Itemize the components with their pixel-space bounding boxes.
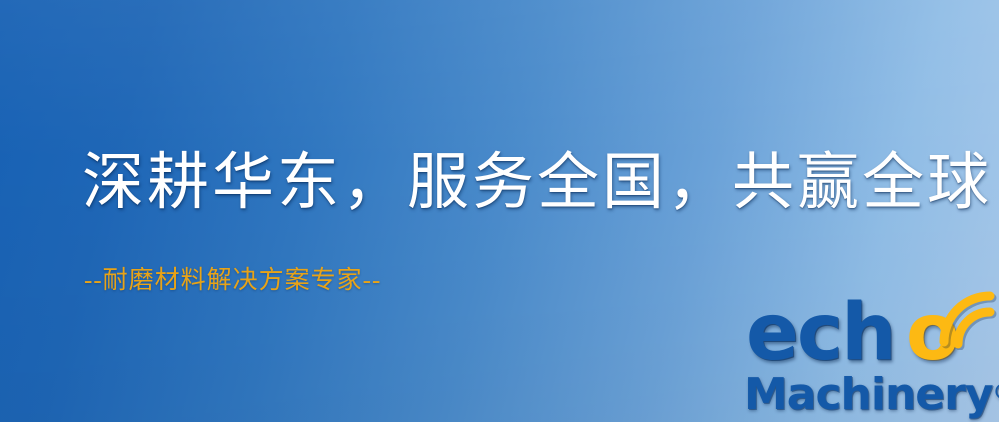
echo-machinery-logo: ech o Machinery® [742,292,994,420]
banner-subtitle: --耐磨材料解决方案专家-- [84,268,381,293]
hero-banner: 深耕华东，服务全国，共赢全球 --耐磨材料解决方案专家-- ech o Mach… [0,0,999,422]
logo-wordmark: ech o [742,292,994,374]
signal-waves-icon [936,288,999,350]
registered-trademark-icon: ® [993,380,999,404]
logo-wordmark-ech: ech [746,294,895,372]
logo-tagline: Machinery® [744,370,999,417]
logo-tagline-text: Machinery [744,369,993,420]
banner-headline: 深耕华东，服务全国，共赢全球 [82,152,992,214]
